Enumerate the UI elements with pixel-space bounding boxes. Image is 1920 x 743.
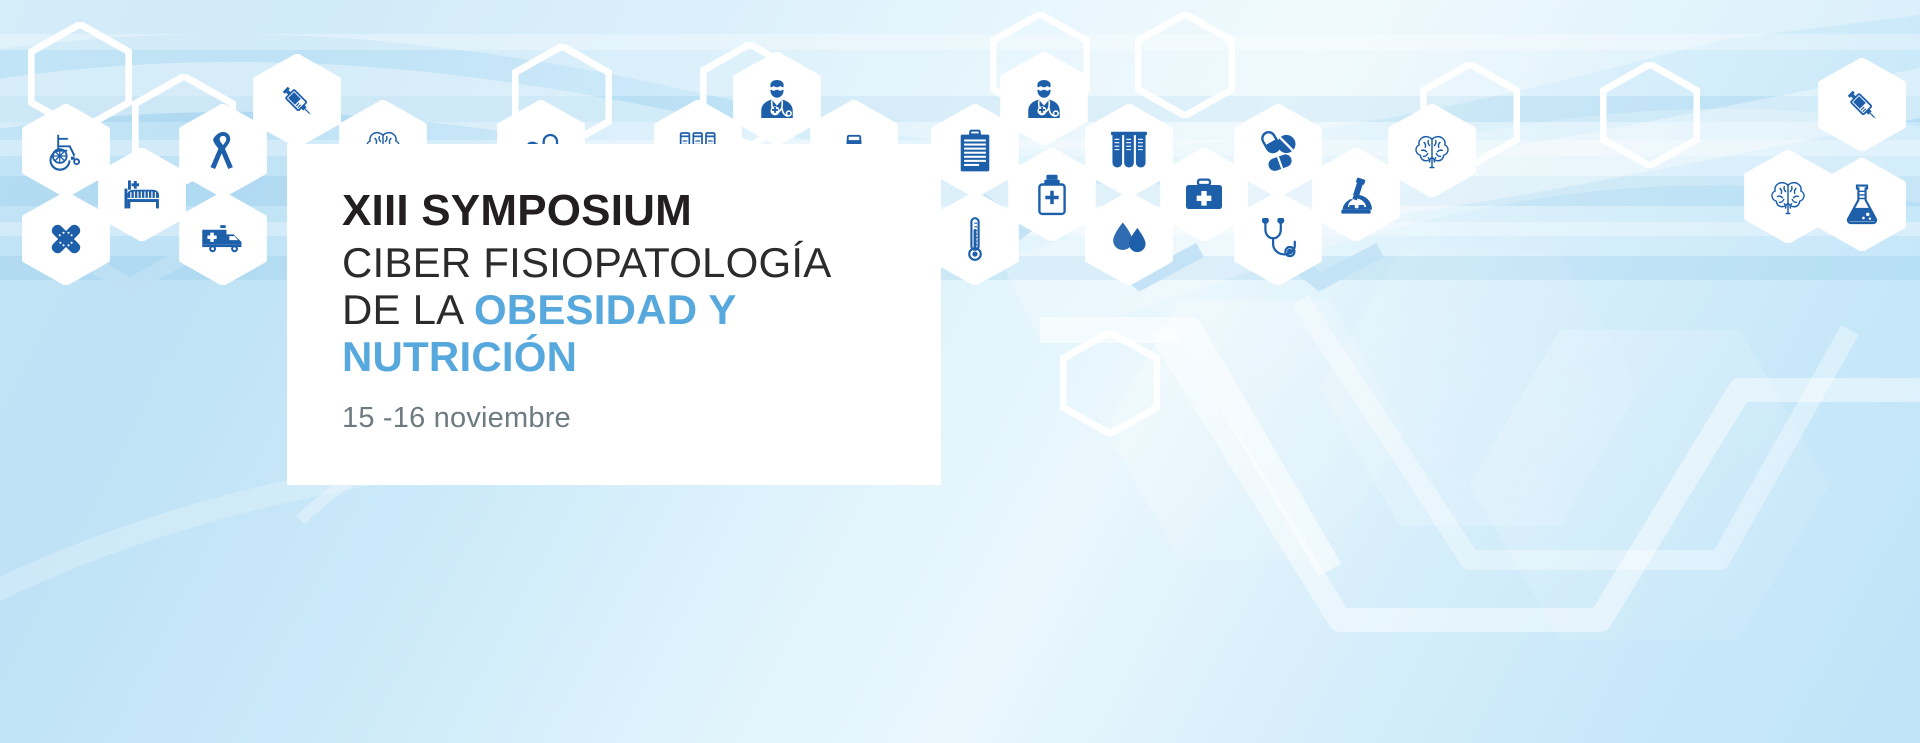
syringe-icon-2 [1843, 86, 1881, 124]
hex-tile-awareness-ribbon-icon [179, 104, 267, 197]
doctor-icon [756, 78, 798, 120]
hex-tile-doctor-icon [733, 52, 821, 145]
hex-tile-flask-icon [1818, 158, 1906, 251]
hex-tile-bandage-icon [22, 192, 110, 285]
title-card: XIII SYMPOSIUM CIBER FISIOPATOLOGÍA DE L… [287, 144, 941, 485]
syringe-icon [278, 82, 316, 120]
hex-outline-7 [1420, 62, 1520, 168]
hex-tile-wheelchair-icon [22, 104, 110, 197]
hex-outline-9 [1060, 330, 1160, 436]
hex-tile-syringe-icon-2 [1818, 58, 1906, 151]
symposium-subtitle-line-1: CIBER FISIOPATOLOGÍA [342, 239, 921, 286]
ambulance-icon [201, 224, 245, 254]
medicine-bottle-icon [1035, 174, 1069, 216]
hex-tile-thermometer-icon [931, 192, 1019, 285]
hex-outline-2 [132, 74, 236, 184]
bandage-icon [46, 219, 86, 259]
brain-icon-3 [1766, 179, 1810, 215]
symposium-subtitle-line-2: DE LA OBESIDAD Y [342, 286, 921, 333]
hex-tile-blood-drops-icon [1085, 192, 1173, 285]
awareness-ribbon-icon [206, 130, 240, 172]
pills-icon [1258, 130, 1298, 172]
hex-tile-first-aid-kit-icon [1160, 148, 1248, 241]
background-band [0, 34, 1920, 50]
symposium-dates: 15 -16 noviembre [342, 402, 921, 435]
hex-tile-stethoscope-icon [1234, 192, 1322, 285]
hex-tile-doctor-icon-2 [1000, 52, 1088, 145]
symposium-title: XIII SYMPOSIUM [342, 188, 921, 235]
thermometer-icon [966, 216, 984, 262]
hex-tile-medicine-bottle-icon [1008, 148, 1096, 241]
hex-tile-brain-icon-3 [1744, 150, 1832, 243]
hex-tile-pills-icon [1234, 104, 1322, 197]
background-band [0, 96, 1920, 122]
symposium-banner: XIII SYMPOSIUM CIBER FISIOPATOLOGÍA DE L… [0, 0, 1920, 743]
hex-outline-8 [1600, 62, 1700, 168]
blood-drops-icon [1109, 221, 1149, 257]
doctor-icon-2 [1023, 78, 1065, 120]
first-aid-kit-icon [1184, 178, 1224, 212]
subtitle-plain-text: DE LA [342, 286, 474, 333]
title-card-content: XIII SYMPOSIUM CIBER FISIOPATOLOGÍA DE L… [342, 188, 921, 435]
hex-outline-6 [1135, 12, 1235, 118]
hex-tile-syringe-icon [253, 54, 341, 147]
hex-tile-hospital-bed-icon [98, 148, 186, 241]
clipboard-icon [958, 129, 992, 173]
hex-tile-vials-icon [1085, 104, 1173, 197]
hex-tile-microscope-icon [1312, 148, 1400, 241]
vials-icon [1110, 131, 1148, 171]
microscope-icon [1336, 175, 1376, 215]
wheelchair-icon [46, 131, 86, 171]
stethoscope-icon [1258, 218, 1298, 260]
hex-tile-ambulance-icon [179, 192, 267, 285]
hex-tile-brain-icon-2 [1388, 104, 1476, 197]
brain-icon-2 [1410, 133, 1454, 169]
flask-icon [1844, 184, 1880, 226]
subtitle-accent-text: OBESIDAD Y [474, 286, 737, 333]
hex-tile-clipboard-icon [931, 104, 1019, 197]
hex-outline-4 [700, 42, 800, 148]
hex-outline-1 [28, 22, 132, 132]
hex-outline-5 [990, 12, 1090, 118]
hospital-bed-icon [121, 178, 163, 212]
hex-outline-3 [512, 44, 612, 150]
symposium-subtitle-line-3: NUTRICIÓN [342, 333, 921, 380]
